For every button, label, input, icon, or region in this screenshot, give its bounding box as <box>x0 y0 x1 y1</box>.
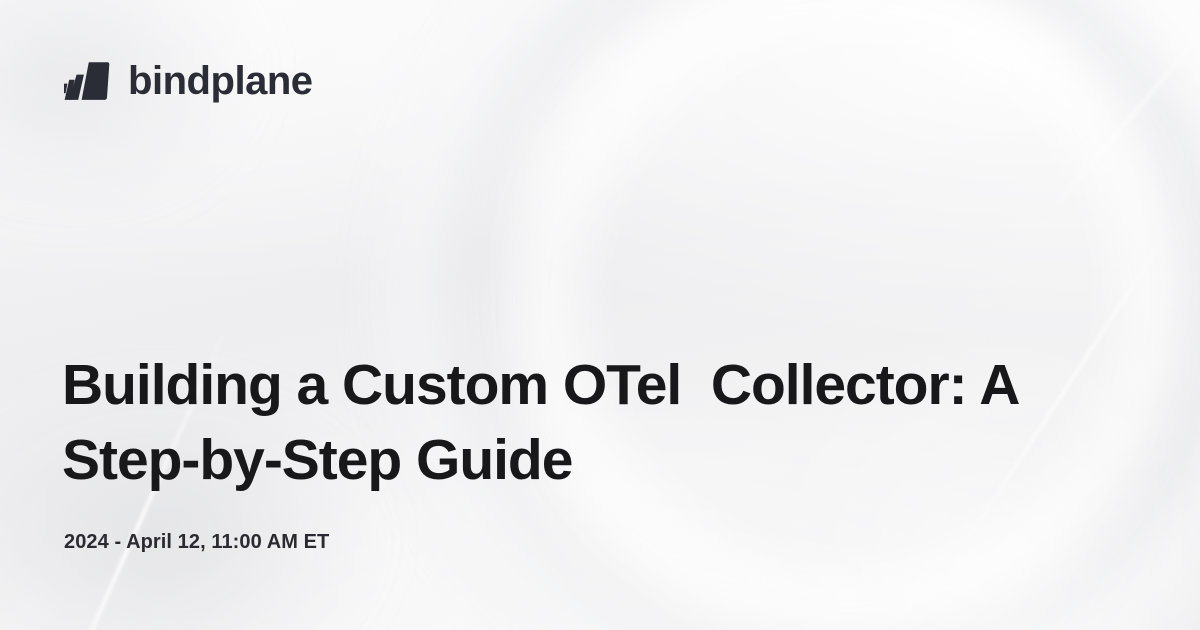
event-date: 2024 - April 12, 11:00 AM ET <box>64 530 329 554</box>
brand-wordmark: bindplane <box>128 61 313 101</box>
brand-logo[interactable]: bindplane <box>64 60 313 102</box>
og-card: bindplane Building a Custom OTel Collect… <box>0 0 1200 630</box>
airplane-tail-icon <box>64 60 114 102</box>
page-title: Building a Custom OTel Collector: A Step… <box>62 348 1122 497</box>
card-content: bindplane Building a Custom OTel Collect… <box>0 0 1200 630</box>
